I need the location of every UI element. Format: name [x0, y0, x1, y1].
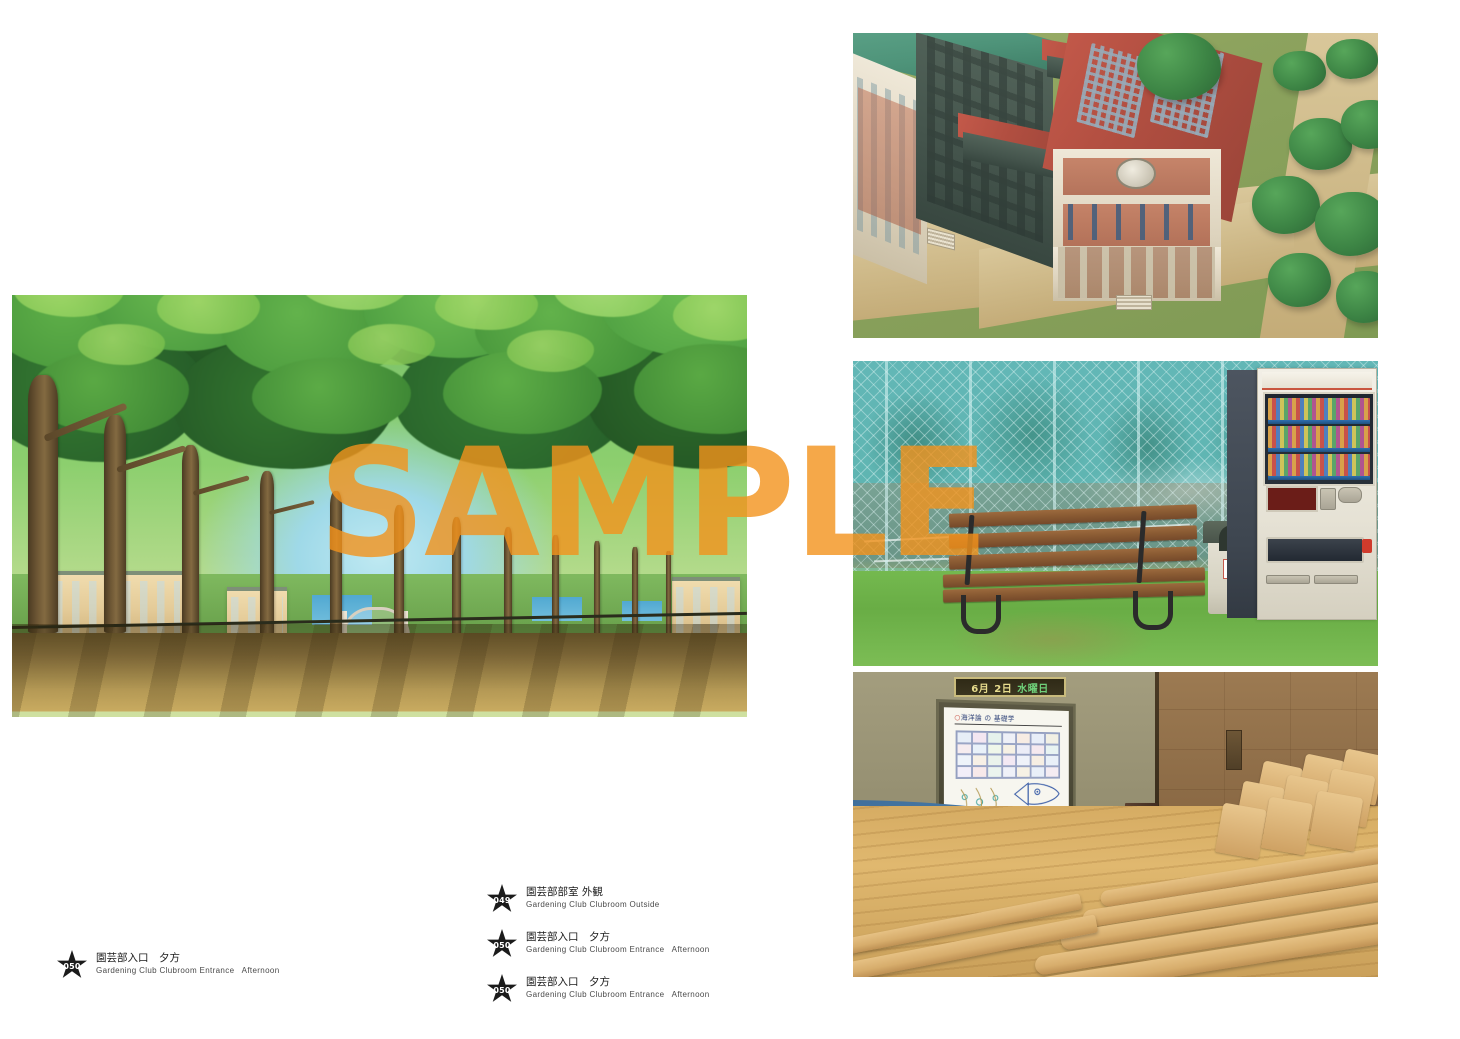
- vending-machine-display-window: [1263, 392, 1375, 486]
- screen-title: ○海洋論 の 基礎学: [954, 713, 1061, 727]
- dorm-brick: [858, 87, 921, 234]
- vending-machine-price-display: [1266, 486, 1318, 512]
- date-weekday: 水曜日: [1017, 680, 1049, 695]
- tree-trunk: [260, 471, 274, 637]
- bench-vending-artwork: [853, 361, 1378, 666]
- star-number: 050: [487, 929, 517, 959]
- artbook-page: 6月 2日 水曜日 ○海洋論 の 基礎学: [0, 0, 1460, 1039]
- star-badge-icon: 050: [487, 929, 517, 959]
- star-badge-icon: 050: [487, 974, 517, 1004]
- caption-japanese: 園芸部入口 夕方: [526, 930, 710, 944]
- tree-trunk: [28, 375, 58, 633]
- caption-english: Gardening Club Clubroom Entrance Afterno…: [526, 944, 710, 956]
- coin-return-button[interactable]: [1362, 539, 1372, 553]
- caption-japanese: 園芸部入口 夕方: [96, 951, 280, 965]
- tree-trunk: [504, 527, 512, 639]
- caption-text: 園芸部入口 夕方 Gardening Club Clubroom Entranc…: [526, 929, 710, 956]
- star-badge-icon: 049: [487, 884, 517, 914]
- bill-acceptor: [1338, 487, 1362, 503]
- image-panel-tree-avenue: [12, 295, 747, 717]
- date-month: 6月: [971, 680, 989, 695]
- road-shadows: [12, 624, 747, 717]
- caption-text: 園芸部部室 外観 Gardening Club Clubroom Outside: [526, 884, 660, 911]
- coin-slot: [1320, 488, 1336, 510]
- caption-english: Gardening Club Clubroom Outside: [526, 899, 660, 911]
- caption-row: 049 園芸部部室 外観 Gardening Club Clubroom Out…: [487, 884, 710, 914]
- vending-machine-side: [1227, 370, 1259, 618]
- campus-aerial-artwork: [853, 33, 1378, 338]
- star-number: 050: [57, 950, 87, 980]
- caption-japanese: 園芸部入口 夕方: [526, 975, 710, 989]
- vending-machine: [1257, 368, 1377, 620]
- hall-windows: [1068, 204, 1205, 241]
- caption-text: 園芸部入口 夕方 Gardening Club Clubroom Entranc…: [96, 950, 280, 977]
- hall-entrance-stairs: [1116, 295, 1152, 310]
- star-badge-icon: 050: [57, 950, 87, 980]
- caption-english: Gardening Club Clubroom Entrance Afterno…: [526, 989, 710, 1001]
- tree-trunk: [104, 415, 126, 633]
- caption-japanese: 園芸部部室 外観: [526, 885, 660, 899]
- caption-row: 050 園芸部入口 夕方 Gardening Club Clubroom Ent…: [487, 974, 710, 1004]
- caption-list-left: 050 園芸部入口 夕方 Gardening Club Clubroom Ent…: [57, 950, 280, 995]
- star-number: 049: [487, 884, 517, 914]
- date-day: 2日: [994, 680, 1012, 695]
- tree-trunk: [452, 517, 461, 639]
- hall-columns: [1058, 247, 1216, 299]
- wall-speaker: [1226, 730, 1242, 770]
- vending-machine-banner: [1262, 372, 1372, 390]
- caption-list-middle: 049 園芸部部室 外観 Gardening Club Clubroom Out…: [487, 884, 710, 1019]
- image-panel-campus-aerial: [853, 33, 1378, 338]
- star-number: 050: [487, 974, 517, 1004]
- caption-row: 050 園芸部入口 夕方 Gardening Club Clubroom Ent…: [487, 929, 710, 959]
- caption-text: 園芸部入口 夕方 Gardening Club Clubroom Entranc…: [526, 974, 710, 1001]
- roof-tree: [1137, 33, 1221, 100]
- tree-avenue-artwork: [12, 295, 747, 717]
- date-display-board: 6月 2日 水曜日: [954, 677, 1066, 697]
- screen-diagram-grid: [956, 731, 1060, 779]
- caption-english: Gardening Club Clubroom Entrance Afterno…: [96, 965, 280, 977]
- image-panel-lecture-hall: 6月 2日 水曜日 ○海洋論 の 基礎学: [853, 672, 1378, 977]
- dispense-tray: [1266, 537, 1364, 563]
- lecture-hall-artwork: 6月 2日 水曜日 ○海洋論 の 基礎学: [853, 672, 1378, 977]
- tree-trunk: [182, 445, 199, 635]
- image-panel-bench-vending: [853, 361, 1378, 666]
- caption-row: 050 園芸部入口 夕方 Gardening Club Clubroom Ent…: [57, 950, 280, 980]
- title-text: 海洋論 の 基礎学: [961, 714, 1015, 723]
- tree-trunk: [330, 491, 342, 639]
- hall-crest-medallion: [1116, 158, 1156, 189]
- park-bench: [943, 509, 1203, 639]
